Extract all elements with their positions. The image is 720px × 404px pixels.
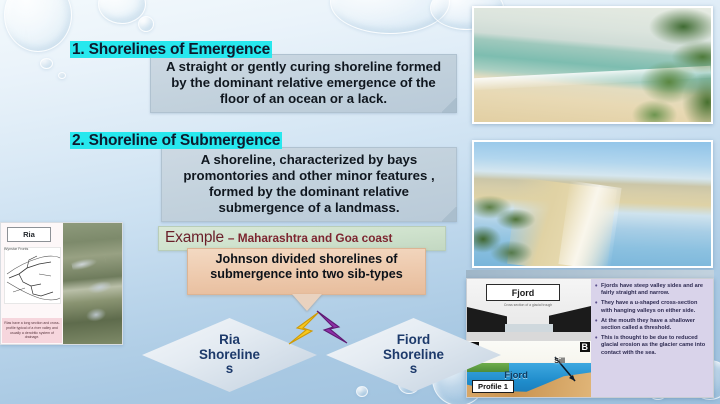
lightning-bolt-icon-right [309,309,353,353]
water-droplet [4,0,72,52]
list-item: This is thought to be due to reduced gla… [594,335,709,357]
example-label: Example [165,229,224,247]
ria-sketch-caption: Wynstar Fronts [4,247,28,251]
definition-submergence-callout: A shoreline, characterized by bays promo… [161,147,457,222]
ria-sketch-map [4,247,61,304]
ria-line-2: Shoreline [199,348,260,363]
fiord-line-2: Shoreline [383,348,444,363]
palm-trees [597,6,713,124]
definition-submergence-text: A shoreline, characterized by bays promo… [183,152,434,215]
coastal-vegetation [472,192,579,268]
fjord-title: Fjord [486,284,560,301]
johnson-text: Johnson divided shorelines of submergenc… [210,252,402,281]
definition-emergence-callout: A straight or gently curing shoreline fo… [150,54,457,113]
list-item: At the mouth they have a shallower secti… [594,318,709,333]
ria-title: Ria [7,227,51,242]
ria-diagram-panel: Ria Wynstar Fronts Rias have a long sect… [0,222,123,345]
ria-note-text: Rias have a long section and cross-profi… [2,318,62,343]
johnson-subtypes-callout: Johnson divided shorelines of submergenc… [187,248,426,295]
ria-aerial-photo [63,223,122,344]
slide-canvas: 1. Shorelines of Emergence 2. Shoreline … [0,0,720,404]
water-droplet [40,58,53,69]
ria-diagram-left: Ria Wynstar Fronts Rias have a long sect… [1,223,63,344]
fjord-bullets-ul: Fjords have steep valley sides and are f… [594,283,709,357]
fjord-cliff-right [549,306,591,333]
photo-goa-coastline [472,140,713,268]
heading-shoreline-of-submergence: 2. Shoreline of Submergence [70,132,282,149]
definition-emergence-text: A straight or gently curing shoreline fo… [166,59,441,106]
fjord-diagram-panel: Fjord Cross section of a glacial trough … [466,278,714,398]
fjord-bullet-list: Fjords have steep valley sides and are f… [591,279,713,397]
ria-line-1: Ria [219,333,240,348]
list-item: They have a u-shaped cross-section with … [594,300,709,315]
fiord-line-3: s [410,362,417,377]
profile-point-b: B [580,342,591,352]
fjord-cross-caption: Cross section of a glacial trough [485,303,571,307]
ria-sketch-svg [5,248,62,305]
fiord-line-1: Fiord [397,333,430,348]
callout-tail [442,207,457,222]
label-sill: Sill [554,356,565,365]
list-item: Fjords have steep valley sides and are f… [594,283,709,298]
heading-shorelines-of-emergence: 1. Shorelines of Emergence [70,41,272,58]
photo-beach-with-palms [472,6,713,124]
water-droplet [138,16,154,32]
ria-line-3: s [226,362,233,377]
example-text: – Maharashtra and Goa coast [228,231,393,245]
water-droplet [58,72,66,79]
callout-tail [442,98,457,113]
